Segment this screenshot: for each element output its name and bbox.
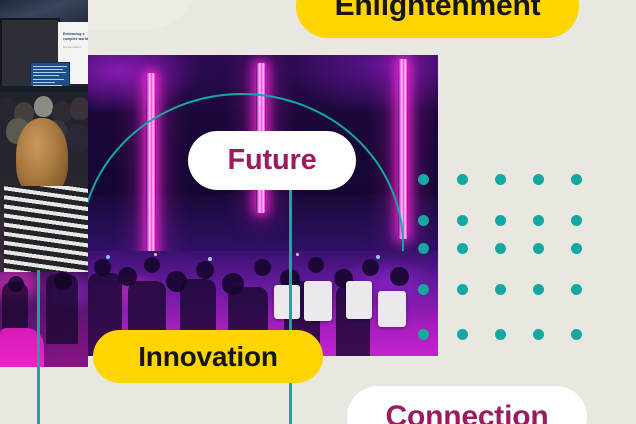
pill-enlightenment[interactable]: Enlightenment (296, 0, 579, 38)
pill-innovation[interactable]: Innovation (93, 330, 323, 383)
slide-subtext: Keynote session (63, 46, 88, 49)
photo-conference-room-audience: Embracing a complex world Keynote sessio… (0, 0, 88, 272)
soft-corner-shape (88, 0, 200, 30)
pill-enlightenment-label: Enlightenment (335, 0, 541, 23)
photo-neon-stage-conference-crowd (88, 55, 438, 356)
pill-connection[interactable]: Connection (347, 386, 587, 424)
foreground-person-striped-top (4, 186, 88, 272)
rule-left-vertical (37, 270, 40, 424)
foreground-person-hair (16, 118, 68, 196)
slide-heading: Embracing a complex world (63, 32, 88, 41)
pill-innovation-label: Innovation (138, 341, 278, 373)
poster-canvas: Embracing a complex world Keynote sessio… (0, 0, 636, 424)
pill-future[interactable]: Future (188, 131, 356, 190)
pill-future-label: Future (227, 144, 316, 177)
dot-grid-decoration (418, 174, 586, 340)
rule-center-vertical (289, 190, 292, 424)
pill-connection-label: Connection (386, 400, 549, 424)
photo-purple-crowd-closeup (0, 272, 88, 367)
